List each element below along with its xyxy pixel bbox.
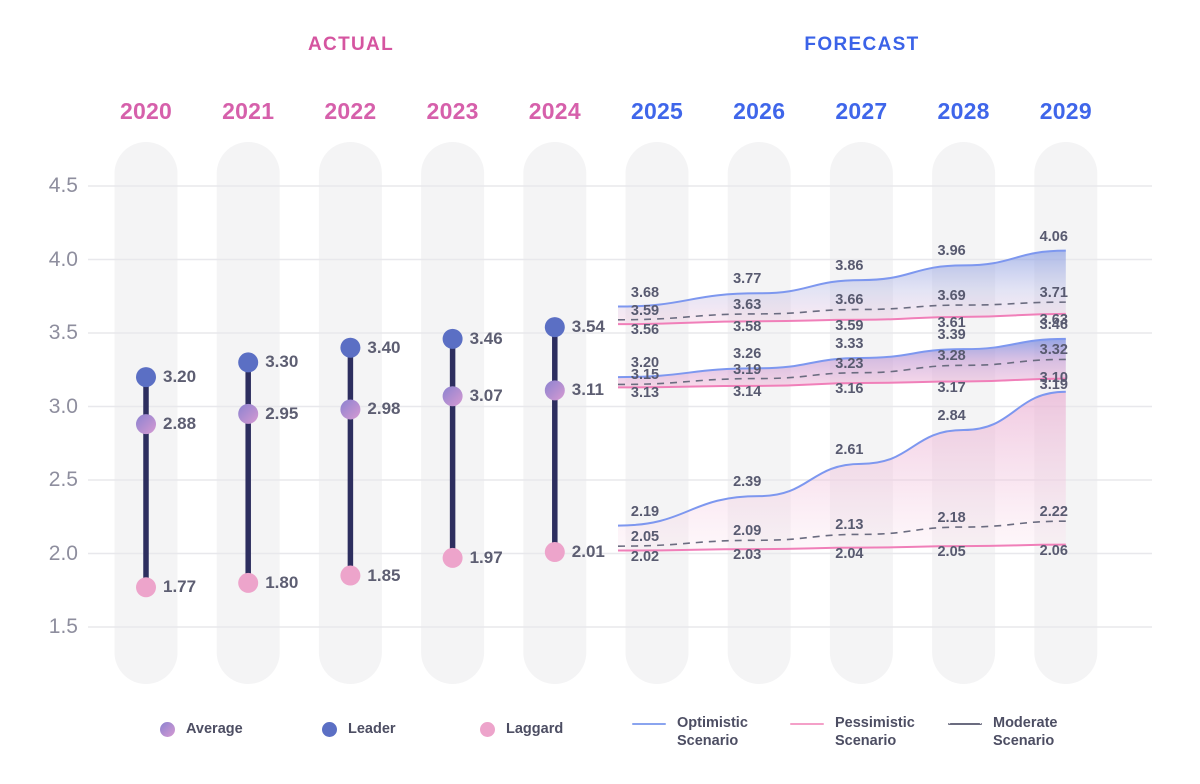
- forecast-value-2026-average-optimistic: 3.26: [733, 346, 761, 362]
- legend-label-optimistic-line1: Optimistic: [677, 714, 748, 732]
- actual-value-2022-leader: 3.40: [367, 338, 400, 358]
- actual-value-2023-average: 3.07: [470, 386, 503, 406]
- legend-label-average: Average: [186, 720, 243, 738]
- actual-value-2020-average: 2.88: [163, 414, 196, 434]
- actual-value-2022-average: 2.98: [367, 399, 400, 419]
- forecast-value-2028-laggard-moderate: 2.18: [937, 510, 965, 526]
- forecast-value-2029-average-optimistic: 3.46: [1040, 317, 1068, 333]
- forecast-value-2027-average-pessimistic: 3.16: [835, 381, 863, 397]
- forecast-value-2028-laggard-pessimistic: 2.05: [937, 544, 965, 560]
- legend-label-laggard: Laggard: [506, 720, 563, 738]
- legend-line-optimistic-icon: [632, 723, 666, 725]
- forecast-value-2028-average-pessimistic: 3.17: [937, 380, 965, 396]
- forecast-value-2028-average-moderate: 3.28: [937, 348, 965, 364]
- legend-label-pessimistic: PessimisticScenario: [835, 714, 915, 750]
- forecast-value-2027-laggard-optimistic: 2.61: [835, 442, 863, 458]
- legend-item-pessimistic[interactable]: PessimisticScenario: [790, 714, 915, 750]
- actual-value-2024-average: 3.11: [572, 380, 604, 400]
- legend-line-moderate-icon: [948, 723, 982, 725]
- actual-value-2024-leader: 3.54: [572, 317, 605, 337]
- legend-label-leader: Leader: [348, 720, 396, 738]
- legend-item-laggard[interactable]: Laggard: [480, 720, 563, 738]
- forecast-value-2025-leader-pessimistic: 3.56: [631, 322, 659, 338]
- forecast-value-2028-leader-optimistic: 3.96: [937, 243, 965, 259]
- legend-label-optimistic-line2: Scenario: [677, 732, 748, 750]
- legend-label-moderate-line1: Moderate: [993, 714, 1057, 732]
- actual-value-2021-leader: 3.30: [265, 352, 298, 372]
- actual-value-2021-laggard: 1.80: [265, 573, 298, 593]
- forecast-value-2029-laggard-optimistic: 3.10: [1040, 370, 1068, 386]
- forecast-value-2026-laggard-moderate: 2.09: [733, 523, 761, 539]
- forecast-value-2025-laggard-moderate: 2.05: [631, 529, 659, 545]
- forecast-value-2029-laggard-pessimistic: 2.06: [1040, 543, 1068, 559]
- legend-dot-laggard-icon: [480, 722, 495, 737]
- legend-label-moderate: ModerateScenario: [993, 714, 1057, 750]
- forecast-value-2028-average-optimistic: 3.39: [937, 327, 965, 343]
- forecast-value-2026-leader-moderate: 3.63: [733, 297, 761, 313]
- forecast-value-2026-leader-optimistic: 3.77: [733, 271, 761, 287]
- forecast-value-2026-laggard-optimistic: 2.39: [733, 474, 761, 490]
- forecast-value-2025-laggard-pessimistic: 2.02: [631, 549, 659, 565]
- forecast-value-2026-average-moderate: 3.19: [733, 362, 761, 378]
- forecast-value-2027-average-optimistic: 3.33: [835, 336, 863, 352]
- actual-value-2022-laggard: 1.85: [367, 566, 400, 586]
- legend-item-average[interactable]: Average: [160, 720, 243, 738]
- actual-value-2023-leader: 3.46: [470, 329, 503, 349]
- forecast-value-2029-leader-optimistic: 4.06: [1040, 229, 1068, 245]
- forecast-value-2027-leader-optimistic: 3.86: [835, 258, 863, 274]
- legend-dot-average-icon: [160, 722, 175, 737]
- forecast-value-2025-average-pessimistic: 3.13: [631, 385, 659, 401]
- chart-legend: AverageLeaderLaggardOptimisticScenarioPe…: [0, 700, 1200, 770]
- legend-dot-leader-icon: [322, 722, 337, 737]
- legend-item-moderate[interactable]: ModerateScenario: [948, 714, 1057, 750]
- actual-value-2021-average: 2.95: [265, 404, 298, 424]
- forecast-value-2026-laggard-pessimistic: 2.03: [733, 547, 761, 563]
- forecast-value-2025-average-moderate: 3.15: [631, 367, 659, 383]
- forecast-value-2027-laggard-moderate: 2.13: [835, 517, 863, 533]
- legend-line-pessimistic-icon: [790, 723, 824, 725]
- forecast-value-2027-leader-pessimistic: 3.59: [835, 318, 863, 334]
- actual-value-2020-leader: 3.20: [163, 367, 196, 387]
- legend-label-pessimistic-line1: Pessimistic: [835, 714, 915, 732]
- forecast-value-2029-leader-moderate: 3.71: [1040, 285, 1068, 301]
- forecast-value-2028-leader-moderate: 3.69: [937, 288, 965, 304]
- forecast-value-2029-average-moderate: 3.32: [1040, 342, 1068, 358]
- actual-value-2020-laggard: 1.77: [163, 577, 196, 597]
- forecast-value-2029-laggard-moderate: 2.22: [1040, 504, 1068, 520]
- actual-value-2024-laggard: 2.01: [572, 542, 605, 562]
- forecast-value-2025-leader-optimistic: 3.68: [631, 285, 659, 301]
- legend-item-optimistic[interactable]: OptimisticScenario: [632, 714, 748, 750]
- forecast-value-2025-leader-moderate: 3.59: [631, 303, 659, 319]
- forecast-value-2026-leader-pessimistic: 3.58: [733, 319, 761, 335]
- forecast-value-2025-laggard-optimistic: 2.19: [631, 504, 659, 520]
- forecast-value-2027-leader-moderate: 3.66: [835, 292, 863, 308]
- forecast-value-2027-laggard-pessimistic: 2.04: [835, 546, 863, 562]
- actual-value-2023-laggard: 1.97: [470, 548, 503, 568]
- legend-label-pessimistic-line2: Scenario: [835, 732, 915, 750]
- chart-canvas: ACTUAL FORECAST 202020212022202320242025…: [0, 0, 1200, 784]
- legend-label-optimistic: OptimisticScenario: [677, 714, 748, 750]
- forecast-value-2028-laggard-optimistic: 2.84: [937, 408, 965, 424]
- forecast-value-2026-average-pessimistic: 3.14: [733, 384, 761, 400]
- forecast-value-2027-average-moderate: 3.23: [835, 356, 863, 372]
- legend-label-moderate-line2: Scenario: [993, 732, 1057, 750]
- legend-item-leader[interactable]: Leader: [322, 720, 396, 738]
